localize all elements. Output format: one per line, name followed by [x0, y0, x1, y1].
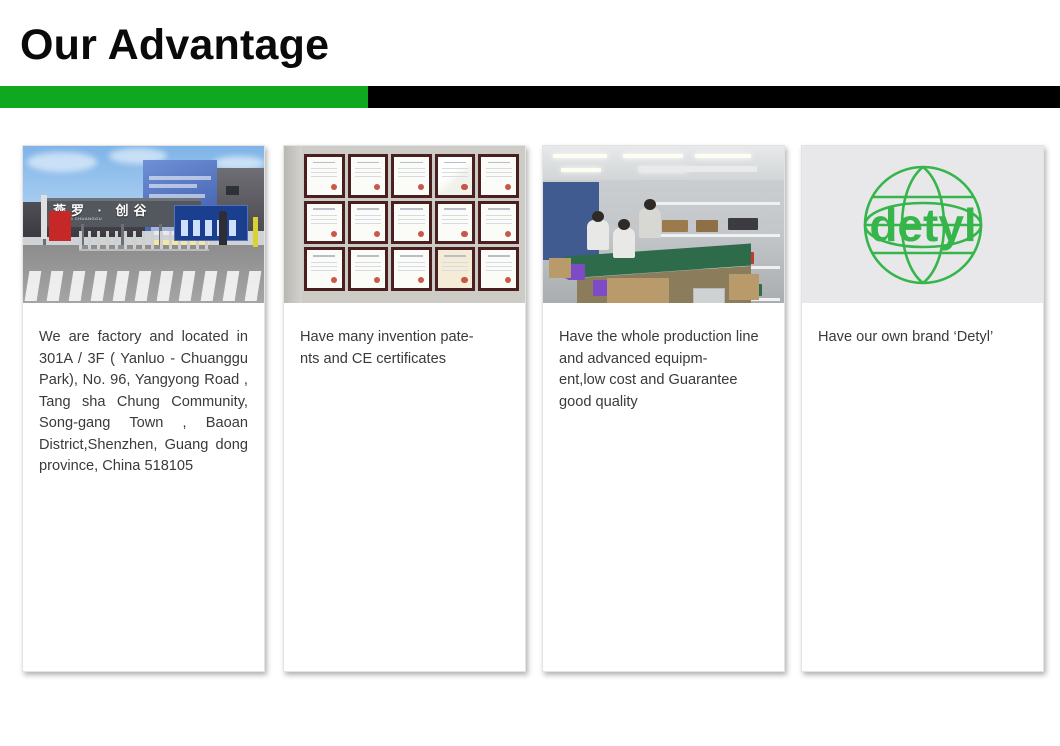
detyl-logo-wordmark: detyl: [869, 199, 976, 251]
advantage-cards-row: 燕罗 · 创谷 YANLUO CHUANGGU: [0, 145, 1060, 680]
card-body: Have the whole production line and advan…: [543, 303, 784, 671]
card-description: Have the whole production line and advan…: [559, 327, 768, 413]
advantage-card-patents-certificates[interactable]: Have many invention pate- nts and CE cer…: [283, 145, 526, 672]
header-divider-green-segment: [0, 86, 368, 108]
card-body: Have many invention pate- nts and CE cer…: [284, 303, 525, 671]
header-divider-bar: [0, 86, 1060, 108]
card-body: Have our own brand ‘Detyl’: [802, 303, 1043, 671]
card-description: Have our own brand ‘Detyl’: [818, 327, 1027, 349]
production-line-photo: [543, 146, 784, 303]
card-body: We are factory and located in 301A / 3F …: [23, 303, 264, 671]
page-title: Our Advantage: [20, 21, 329, 70]
certificates-wall-photo: [284, 146, 525, 303]
advantage-card-own-brand[interactable]: detyl Have our own brand ‘Detyl’: [801, 145, 1044, 672]
card-description: Have many invention pate- nts and CE cer…: [300, 327, 509, 370]
advantage-card-factory-location[interactable]: 燕罗 · 创谷 YANLUO CHUANGGU: [22, 145, 265, 672]
advantage-card-production-line[interactable]: Have the whole production line and advan…: [542, 145, 785, 672]
card-description: We are factory and located in 301A / 3F …: [39, 327, 248, 478]
factory-street-photo: 燕罗 · 创谷 YANLUO CHUANGGU: [23, 146, 264, 303]
detyl-brand-logo: detyl: [802, 146, 1043, 303]
